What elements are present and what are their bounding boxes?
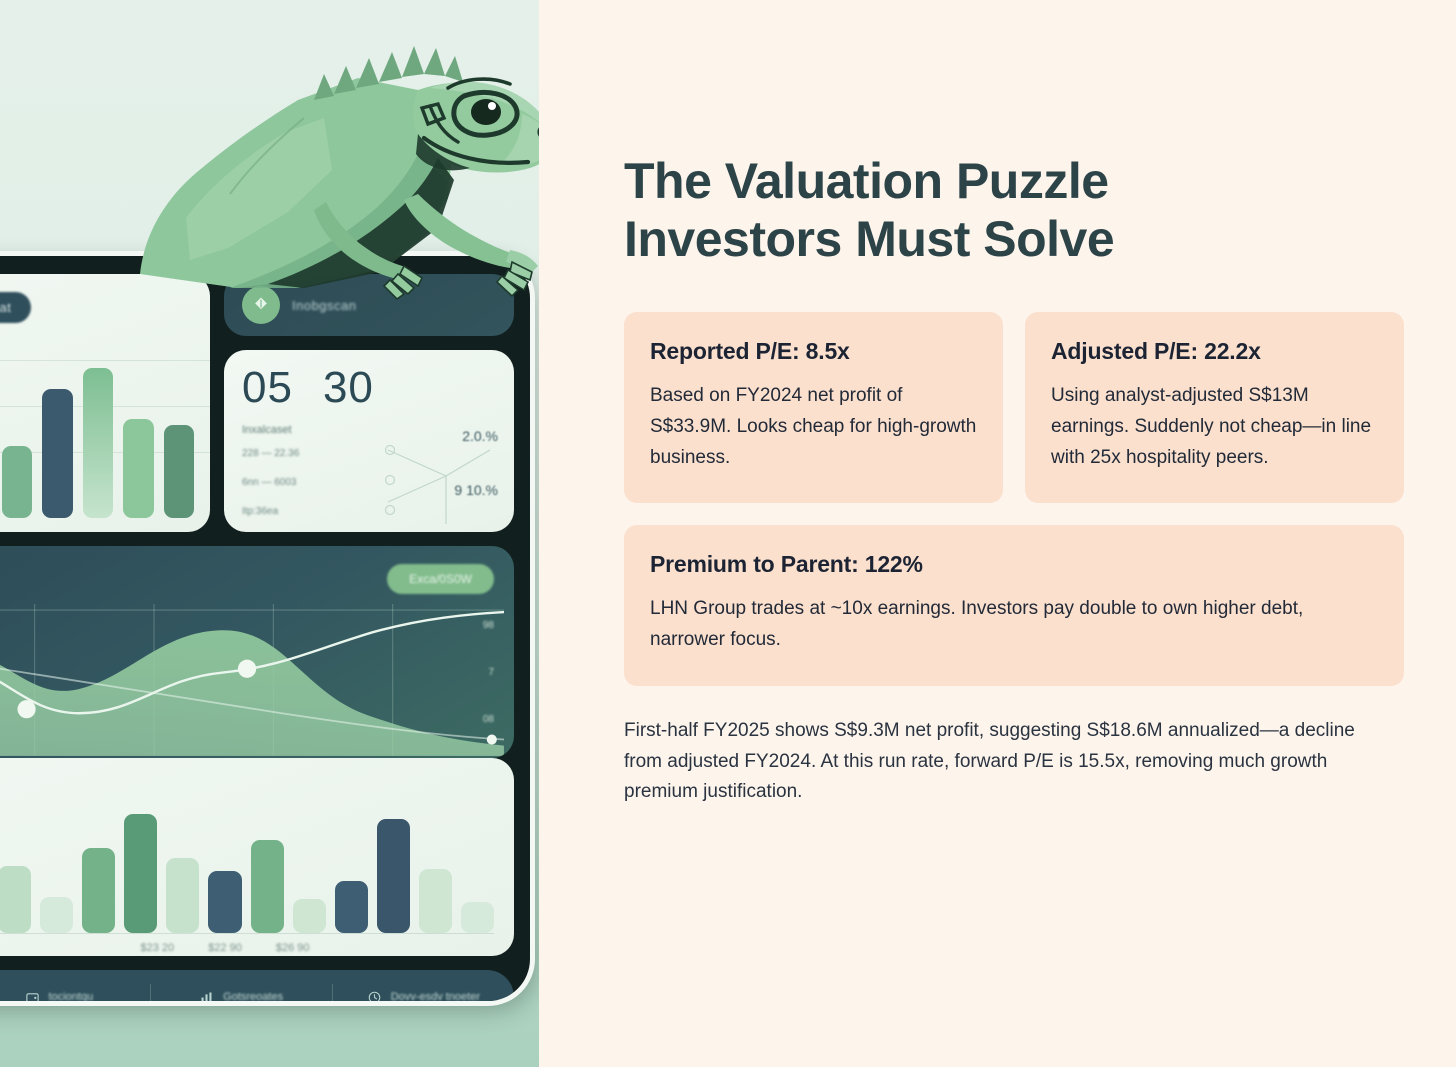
nav-item-more[interactable]: Dovv-esdv tnoeter [333,984,514,1001]
trend-line-chart-card: V8 07 86t Dotvcps Exca/0S0W 2 84 1189 8 … [0,546,514,758]
kpi-number-2: 30 [323,366,374,410]
data-point-marker [487,734,497,744]
nav-item-label: Gotsreoates [223,991,283,1001]
dashboard-device-mockup: 22 01 Ovrw 6 chbdatat [0,256,530,1001]
headline-line-1: The Valuation Puzzle [624,153,1109,209]
bar [82,848,115,933]
nav-item-transactions[interactable]: tociontqu [0,984,151,1001]
breakdown-card-body: avedesOxu5 400 [0,794,494,934]
filter-pill-active[interactable]: 6 chbdatat [0,292,31,323]
kpi-stat-card: 05 30 Inxalcaset 228 — 22.36 6nn — 6003 … [224,350,514,532]
metric-card-reported-pe: Reported P/E: 8.5x Based on FY2024 net p… [624,312,1003,503]
metric-card-premium-to-parent: Premium to Parent: 122% LHN Group trades… [624,525,1404,686]
nav-item-statements[interactable]: Gotsreoates [151,984,333,1001]
content-panel: The Valuation Puzzle Investors Must Solv… [539,0,1456,1067]
metric-card-title: Premium to Parent: 122% [650,551,1378,578]
kpi-big-numbers: 05 30 [242,366,496,410]
metric-card-adjusted-pe: Adjusted P/E: 22.2x Using analyst-adjust… [1025,312,1404,503]
wallet-icon [25,990,40,1002]
data-point-marker [238,660,256,678]
bar [164,425,194,518]
summary-paragraph: First-half FY2025 shows S$9.3M net profi… [624,716,1394,808]
axis-tick: $26 90 [276,942,310,954]
page-title: The Valuation Puzzle Investors Must Solv… [624,152,1404,268]
iguana-mascot-illustration [118,22,539,322]
bar [166,858,199,933]
kpi-percent: 2.0.% [454,428,498,444]
chart-bars-icon [199,990,214,1002]
breakdown-card-title: YOBUANOTODRUSOT [0,774,494,788]
bar [2,446,32,518]
bar [208,871,241,933]
bar [251,840,284,933]
metric-card-body: Based on FY2024 net profit of S$33.9M. L… [650,381,977,473]
bar [123,419,153,518]
metric-card-title: Adjusted P/E: 22.2x [1051,338,1378,365]
metric-card-grid: Reported P/E: 8.5x Based on FY2024 net p… [624,312,1404,686]
bar [83,368,113,518]
mini-bar-series [0,368,194,518]
clock-icon [367,990,382,1002]
nav-item-label: tociontqu [49,991,94,1001]
bottom-nav-bar: Ovansstuo tociontqu Gotsreoates [0,970,514,1001]
metric-card-title: Reported P/E: 8.5x [650,338,977,365]
kpi-percent: 9 10.% [454,482,498,498]
kpi-number-1: 05 [242,366,293,410]
axis-tick: $22 90 [208,942,242,954]
bar [42,389,72,518]
nav-item-label: Dovv-esdv tnoeter [391,991,480,1001]
axis-tick: $23 20 [141,942,175,954]
gridline [0,360,210,361]
bar [124,814,157,933]
breakdown-chart-card: YOBUANOTODRUSOT avedesOxu5 400 [0,758,514,956]
trend-card-chip[interactable]: Exca/0S0W [387,564,494,594]
illustration-panel: 22 01 Ovrw 6 chbdatat [0,0,539,1067]
bar [461,902,494,933]
bar [40,897,73,933]
metric-card-body: LHN Group trades at ~10x earnings. Inves… [650,594,1378,656]
bar [0,866,31,933]
trend-card-header: V8 07 86t Dotvcps Exca/0S0W [0,562,494,596]
headline-line-2: Investors Must Solve [624,210,1404,268]
breakdown-bar-series [0,804,494,934]
bar [419,869,452,934]
bar [335,881,368,933]
bar [293,899,326,933]
bar [377,819,410,933]
kpi-percent-list: 2.0.% 9 10.% [454,428,498,498]
metric-card-body: Using analyst-adjusted S$13M earnings. S… [1051,381,1378,473]
trend-chart-svg [0,604,504,756]
poster-root: 22 01 Ovrw 6 chbdatat [0,0,1456,1067]
data-point-marker [17,700,35,718]
breakdown-x-axis: $23 20 $22 90 $26 90 [0,942,494,954]
